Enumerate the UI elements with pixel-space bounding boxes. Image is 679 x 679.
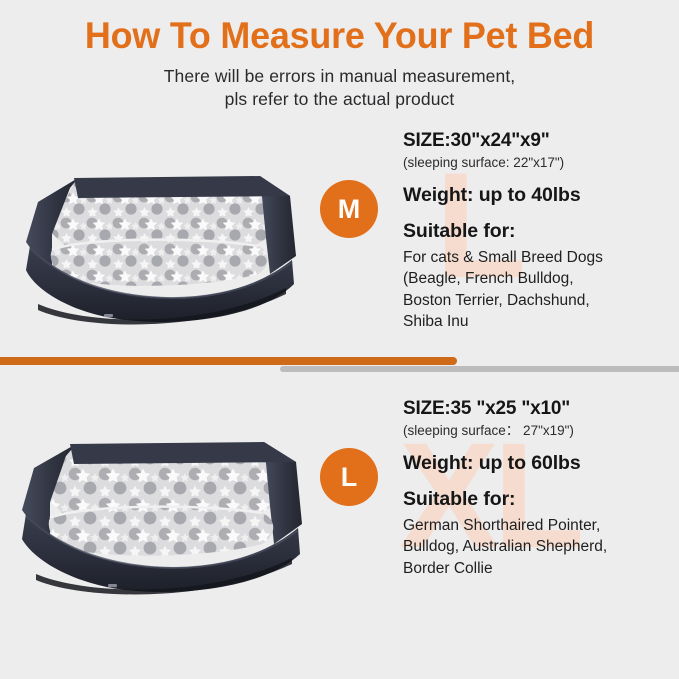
size-dimensions-l: SIZE:35 "x25 "x10" — [403, 398, 679, 420]
breed-line: Border Collie — [403, 558, 679, 579]
breed-line: For cats & Small Breed Dogs — [403, 247, 679, 268]
section-divider — [0, 357, 679, 379]
subtitle-line-2: pls refer to the actual product — [225, 89, 455, 109]
sleeping-surface-m: (sleeping surface: 22"x17") — [403, 152, 679, 171]
product-image-m — [8, 138, 308, 328]
breed-list-m: For cats & Small Breed Dogs (Beagle, Fre… — [403, 243, 679, 333]
product-image-l — [8, 406, 308, 596]
size-badge-m: M — [320, 180, 378, 238]
breed-line: Boston Terrier, Dachshund, — [403, 290, 679, 311]
pet-bed-illustration-icon — [8, 138, 308, 328]
size-badge-l: L — [320, 448, 378, 506]
page-title: How To Measure Your Pet Bed — [10, 0, 669, 56]
size-section-l: L XL SIZE:35 "x25 "x10" (sleeping surfac… — [0, 398, 679, 613]
infographic-page: How To Measure Your Pet Bed There will b… — [0, 0, 679, 679]
suitable-heading-l: Suitable for: — [403, 474, 679, 510]
subtitle-line-1: There will be errors in manual measureme… — [164, 66, 516, 86]
weight-capacity-m: Weight: up to 40lbs — [403, 171, 679, 206]
breed-line: Bulldog, Australian Shepherd, — [403, 536, 679, 557]
breed-list-l: German Shorthaired Pointer, Bulldog, Aus… — [403, 511, 679, 579]
breed-line: Shiba Inu — [403, 311, 679, 332]
size-info-m: L SIZE:30"x24"x9" (sleeping surface: 22"… — [403, 130, 679, 332]
sleeping-surface-l: (sleeping surface： 27"x19") — [403, 420, 679, 439]
header: How To Measure Your Pet Bed There will b… — [0, 0, 679, 110]
breed-line: (Beagle, French Bulldog, — [403, 268, 679, 289]
page-subtitle: There will be errors in manual measureme… — [0, 56, 679, 111]
size-info-l: XL SIZE:35 "x25 "x10" (sleeping surface：… — [403, 398, 679, 579]
suitable-heading-m: Suitable for: — [403, 206, 679, 242]
size-dimensions-m: SIZE:30"x24"x9" — [403, 130, 679, 152]
weight-capacity-l: Weight: up to 60lbs — [403, 439, 679, 474]
pet-bed-illustration-icon — [8, 406, 308, 596]
size-section-m: M L SIZE:30"x24"x9" (sleeping surface: 2… — [0, 130, 679, 345]
divider-orange-bar — [0, 357, 457, 365]
breed-line: German Shorthaired Pointer, — [403, 515, 679, 536]
divider-gray-bar — [280, 366, 679, 372]
